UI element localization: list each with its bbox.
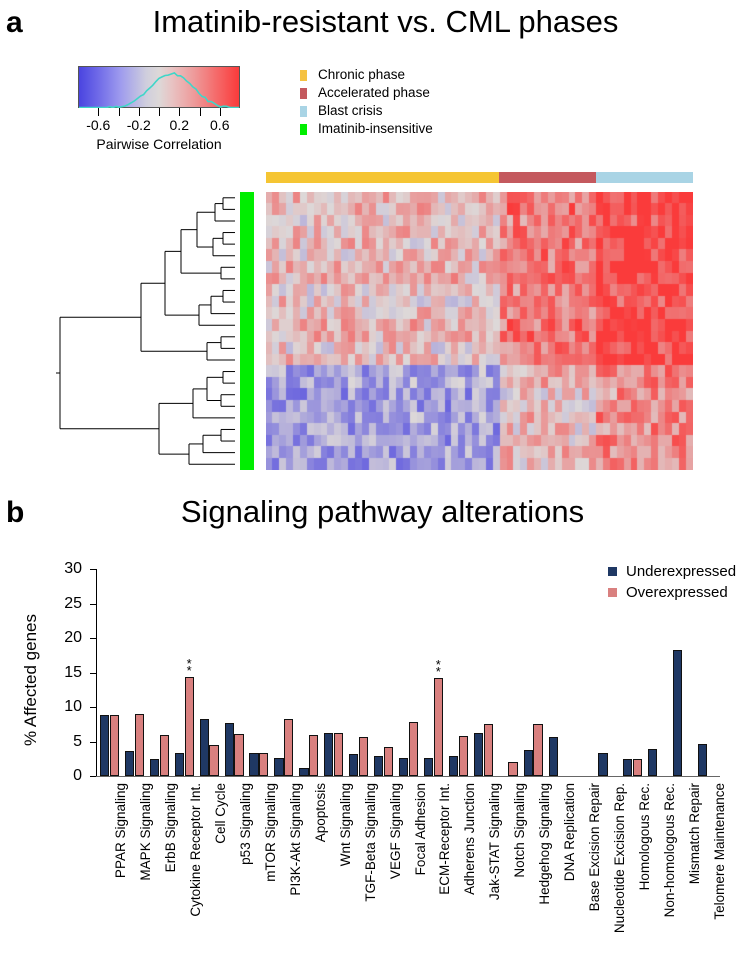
bar-underexpressed	[424, 758, 433, 776]
bar-chart-legend: UnderexpressedOverexpressed	[608, 561, 736, 603]
color-key-tick	[139, 108, 140, 116]
bar-underexpressed	[150, 759, 159, 776]
x-axis-category-label: Apoptosis	[314, 783, 328, 842]
bar-underexpressed	[299, 768, 308, 776]
x-axis-category-label: Hedgehog Signaling	[538, 783, 552, 905]
y-axis-tick-label: 20	[42, 630, 82, 646]
x-axis-category-label: Adherens Junction	[463, 783, 477, 895]
y-axis-tick-label: 30	[42, 561, 82, 577]
bar-overexpressed	[334, 733, 343, 776]
legend-item: Imatinib-insensitive	[300, 120, 433, 138]
color-key-tick	[119, 108, 120, 116]
y-axis-tick-label: 15	[42, 665, 82, 681]
x-axis-category-label: ECM-Receptor Int.	[438, 783, 452, 895]
bar-underexpressed	[374, 756, 383, 776]
x-axis-category-label: Nucleotide Excision Rep.	[613, 783, 627, 933]
legend-item: Overexpressed	[608, 582, 736, 603]
bar-group	[274, 569, 293, 776]
bar-overexpressed	[209, 745, 218, 776]
color-key-tick	[220, 108, 221, 116]
color-key-tick-label: -0.2	[117, 117, 161, 133]
bar-underexpressed	[524, 750, 533, 776]
bar-group	[324, 569, 343, 776]
x-axis-line	[96, 776, 720, 777]
bar-underexpressed	[673, 650, 682, 776]
legend-swatch-icon	[300, 88, 307, 99]
x-axis-category-label: TGF-Beta Signaling	[364, 783, 378, 902]
bar-underexpressed	[200, 719, 209, 776]
bar-underexpressed	[623, 759, 632, 776]
bar-group	[549, 569, 568, 776]
heatmap-block	[0, 168, 745, 480]
legend-label: Overexpressed	[626, 585, 728, 600]
bar-overexpressed	[259, 753, 268, 776]
bar-group	[499, 569, 518, 776]
color-key-tick	[98, 108, 99, 116]
bar-group	[573, 569, 592, 776]
legend-item: Chronic phase	[300, 66, 433, 84]
bar-underexpressed	[549, 737, 558, 776]
x-axis-category-label: Cytokine Receptor Int.	[189, 783, 203, 917]
bar-overexpressed	[135, 714, 144, 776]
y-axis-tick	[90, 638, 97, 639]
bar-group: * *	[424, 569, 443, 776]
bar-overexpressed	[484, 724, 493, 776]
density-curve	[79, 67, 239, 108]
color-key-tick-labels: -0.6-0.20.20.6	[64, 117, 254, 133]
color-key-ticks	[78, 108, 240, 117]
bar-group	[200, 569, 219, 776]
color-key-tick-label: 0.6	[198, 117, 242, 133]
bar-underexpressed	[648, 749, 657, 776]
x-axis-category-label: Non-homologous Rec.	[663, 783, 677, 917]
bar-underexpressed	[249, 753, 258, 776]
bar-underexpressed	[698, 744, 707, 776]
bar-group	[125, 569, 144, 776]
y-axis-tick-label: 10	[42, 699, 82, 715]
bar-overexpressed	[384, 747, 393, 776]
bar-overexpressed	[359, 737, 368, 776]
legend-swatch-icon	[300, 124, 307, 135]
x-axis-category-label: Cell Cycle	[214, 783, 228, 844]
bar-overexpressed	[533, 724, 542, 776]
panel-a-title: Imatinib-resistant vs. CML phases	[0, 6, 745, 37]
bar-group	[399, 569, 418, 776]
column-annotation-segment	[266, 172, 499, 183]
x-axis-category-label: Jak-STAT Signaling	[488, 783, 502, 900]
legend-label: Chronic phase	[318, 68, 405, 82]
column-annotation-bar	[266, 172, 693, 183]
legend-label: Blast crisis	[318, 104, 383, 118]
bar-underexpressed	[225, 723, 234, 776]
x-axis-category-label: PPAR Signaling	[114, 783, 128, 878]
color-key-tick	[179, 108, 180, 116]
legend-swatch-icon	[608, 567, 617, 576]
y-axis-tick	[90, 569, 97, 570]
bar-overexpressed	[633, 759, 642, 776]
bar-overexpressed	[160, 735, 169, 776]
x-axis-category-label: ErbB Signaling	[164, 783, 178, 872]
y-axis-tick	[90, 604, 97, 605]
color-key-tick-label: 0.2	[157, 117, 201, 133]
y-axis-tick-label: 0	[42, 768, 82, 784]
y-axis-tick	[90, 742, 97, 743]
legend-label: Imatinib-insensitive	[318, 122, 433, 136]
bar-group	[150, 569, 169, 776]
bar-overexpressed	[459, 736, 468, 776]
significance-marker: * *	[434, 661, 443, 675]
bar-group	[100, 569, 119, 776]
x-axis-category-label: mTOR Signaling	[264, 783, 278, 882]
x-axis-category-label: Wnt Signaling	[339, 783, 353, 866]
bar-underexpressed	[125, 751, 134, 776]
legend-item: Accelerated phase	[300, 84, 433, 102]
bar-underexpressed	[100, 715, 109, 776]
bar-underexpressed	[349, 754, 358, 776]
row-dendrogram	[56, 192, 237, 470]
y-axis-tick	[90, 707, 97, 708]
color-key-gradient	[78, 66, 240, 108]
bar-overexpressed	[110, 715, 119, 776]
color-key-caption: Pairwise Correlation	[78, 136, 240, 152]
legend-swatch-icon	[608, 588, 617, 597]
x-axis-category-label: VEGF Signaling	[389, 783, 403, 879]
bar-group	[349, 569, 368, 776]
column-annotation-segment	[499, 172, 596, 183]
x-axis-category-label: Base Excision Repair	[588, 783, 602, 911]
x-axis-category-label: Telomere Maintenance	[713, 783, 727, 920]
legend-item: Blast crisis	[300, 102, 433, 120]
bar-group	[449, 569, 468, 776]
bar-group: * *	[175, 569, 194, 776]
bar-overexpressed	[434, 678, 443, 776]
bar-overexpressed	[234, 734, 243, 776]
color-key-tick-label: -0.6	[76, 117, 120, 133]
column-annotation-segment	[596, 172, 693, 183]
panel-b-title: Signaling pathway alterations	[0, 496, 745, 527]
bar-overexpressed	[284, 719, 293, 776]
row-annotation-bar	[240, 192, 254, 470]
legend-label: Accelerated phase	[318, 86, 430, 100]
bar-underexpressed	[399, 758, 408, 776]
color-key-tick	[159, 108, 160, 116]
x-axis-category-label: PI3K-Akt Signaling	[289, 783, 303, 896]
bar-underexpressed	[598, 753, 607, 776]
bar-overexpressed	[508, 762, 517, 776]
x-axis-category-label: DNA Replication	[563, 783, 577, 881]
x-axis-category-label: Focal Adhesion	[414, 783, 428, 875]
bar-underexpressed	[175, 753, 184, 776]
bar-overexpressed	[185, 677, 194, 776]
x-axis-category-label: MAPK Signaling	[139, 783, 153, 881]
y-axis-tick	[90, 673, 97, 674]
color-key-tick	[200, 108, 201, 116]
legend-label: Underexpressed	[626, 564, 736, 579]
bar-group	[249, 569, 268, 776]
x-axis-category-label: Notch Signaling	[513, 783, 527, 878]
significance-marker: * *	[185, 660, 194, 674]
bar-group	[474, 569, 493, 776]
bar-group	[374, 569, 393, 776]
bar-group	[225, 569, 244, 776]
bar-underexpressed	[474, 733, 483, 776]
color-key: -0.6-0.20.20.6 Pairwise Correlation	[78, 66, 240, 152]
bar-group	[299, 569, 318, 776]
bar-underexpressed	[449, 756, 458, 776]
bar-underexpressed	[324, 733, 333, 776]
bar-underexpressed	[274, 758, 283, 776]
legend-swatch-icon	[300, 106, 307, 117]
legend-swatch-icon	[300, 70, 307, 81]
bar-group	[524, 569, 543, 776]
heatmap	[266, 192, 693, 470]
phase-legend: Chronic phaseAccelerated phaseBlast cris…	[300, 66, 433, 138]
x-axis-category-label: p53 Signaling	[239, 783, 253, 865]
x-axis-category-label: Homologous Rec.	[638, 783, 652, 890]
y-axis-tick-label: 5	[42, 734, 82, 750]
bar-chart: % Affected genes 051015202530 * ** * PPA…	[0, 545, 745, 967]
y-axis-tick-label: 25	[42, 596, 82, 612]
bar-overexpressed	[409, 722, 418, 776]
x-axis-category-label: Mismatch Repair	[688, 783, 702, 884]
legend-item: Underexpressed	[608, 561, 736, 582]
bar-overexpressed	[309, 735, 318, 776]
y-axis-title: % Affected genes	[21, 580, 41, 780]
